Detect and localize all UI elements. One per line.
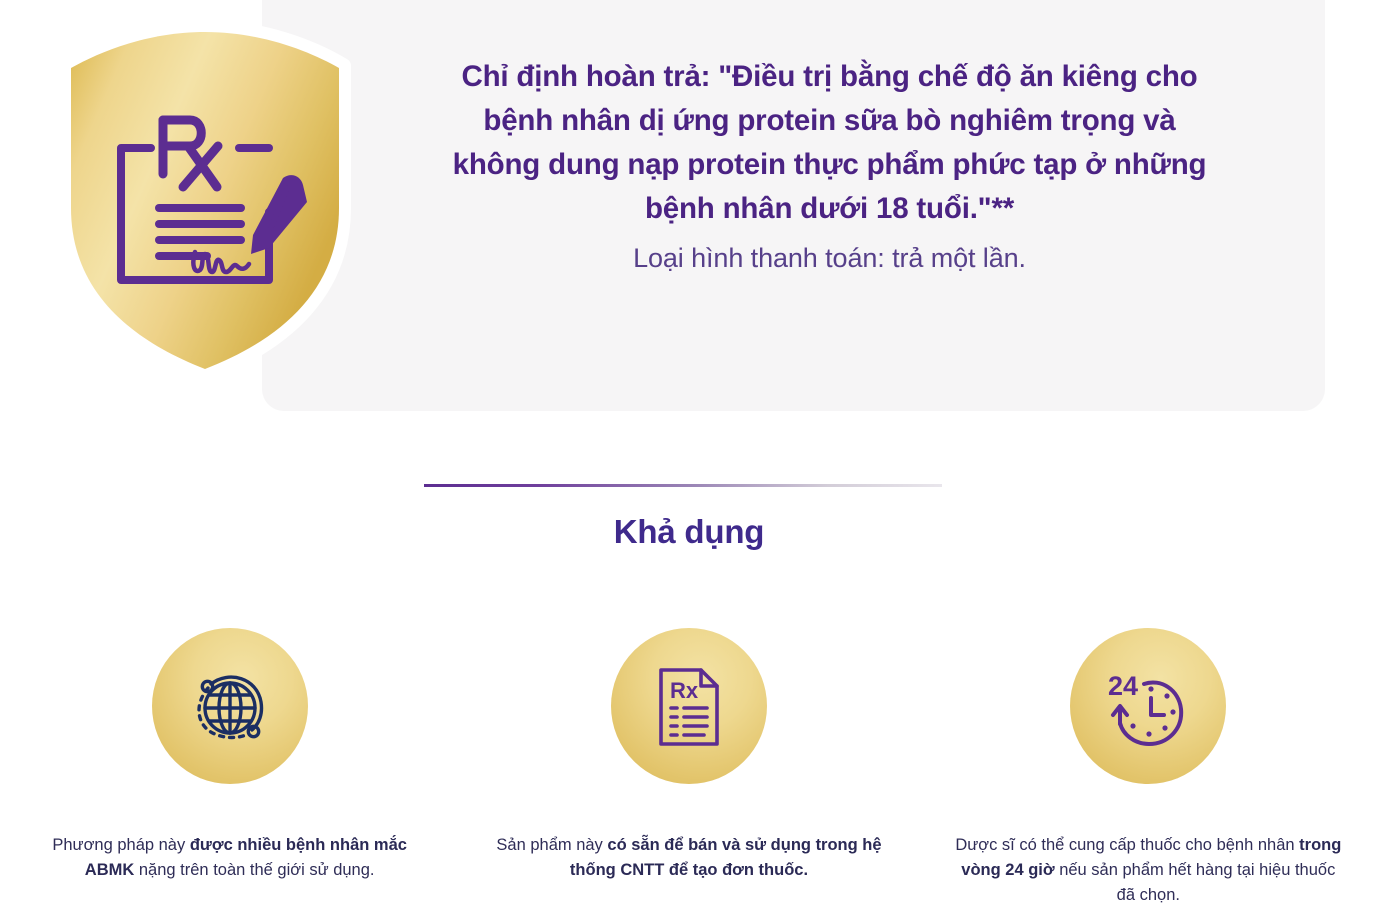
feature-caption-prefix: Sản phẩm này [496, 836, 607, 854]
globe-network-icon [152, 628, 308, 784]
feature-caption-suffix: nặng trên toàn thế giới sử dụng. [134, 861, 374, 879]
rx-document-icon: Rx [611, 628, 767, 784]
feature-caption: Phương pháp này được nhiều bệnh nhân mắc… [35, 833, 425, 883]
feature-caption-prefix: Phương pháp này [52, 836, 189, 854]
hero-title: Chỉ định hoàn trả: "Điều trị bằng chế độ… [362, 55, 1297, 231]
feature-caption-prefix: Dược sĩ có thể cung cấp thuốc cho bệnh n… [955, 836, 1299, 854]
section-title: Khả dụng [0, 513, 1378, 551]
hero-subtitle: Loại hình thanh toán: trả một lần. [362, 240, 1297, 276]
feature-caption: Sản phẩm này có sẵn để bán và sử dụng tr… [494, 833, 884, 883]
hero-text-block: Chỉ định hoàn trả: "Điều trị bằng chế độ… [362, 55, 1297, 276]
features-row: Phương pháp này được nhiều bệnh nhân mắc… [0, 628, 1378, 908]
section-divider [424, 484, 942, 487]
hero-title-line-4: bệnh nhân dưới 18 tuổi."** [362, 187, 1297, 231]
svg-text:Rx: Rx [670, 678, 699, 703]
feature-item: Phương pháp này được nhiều bệnh nhân mắc… [0, 628, 459, 908]
feature-caption-bold: có sẵn để bán và sử dụng trong hệ thống … [570, 836, 882, 879]
feature-caption-suffix: nếu sản phẩm hết hàng tại hiệu thuốc đã … [1055, 861, 1336, 904]
hero-card: Chỉ định hoàn trả: "Điều trị bằng chế độ… [262, 0, 1325, 411]
page-root: Chỉ định hoàn trả: "Điều trị bằng chế độ… [0, 0, 1378, 918]
hero-title-line-2: bệnh nhân dị ứng protein sữa bò nghiêm t… [362, 99, 1297, 143]
svg-text:24: 24 [1108, 671, 1138, 701]
hero-title-line-3: không dung nạp protein thực phẩm phức tạ… [362, 143, 1297, 187]
hero-title-line-1: Chỉ định hoàn trả: "Điều trị bằng chế độ… [362, 55, 1297, 99]
clock-24h-icon: 24 [1070, 628, 1226, 784]
rx-prescription-shield-icon [55, 22, 355, 380]
feature-caption: Dược sĩ có thể cung cấp thuốc cho bệnh n… [953, 833, 1343, 908]
feature-item: Rx Sản phẩm này có sẵn để bán và sử dụng… [459, 628, 918, 908]
feature-item: 24 Dược sĩ có thể cung cấp thuốc cho bện… [919, 628, 1378, 908]
